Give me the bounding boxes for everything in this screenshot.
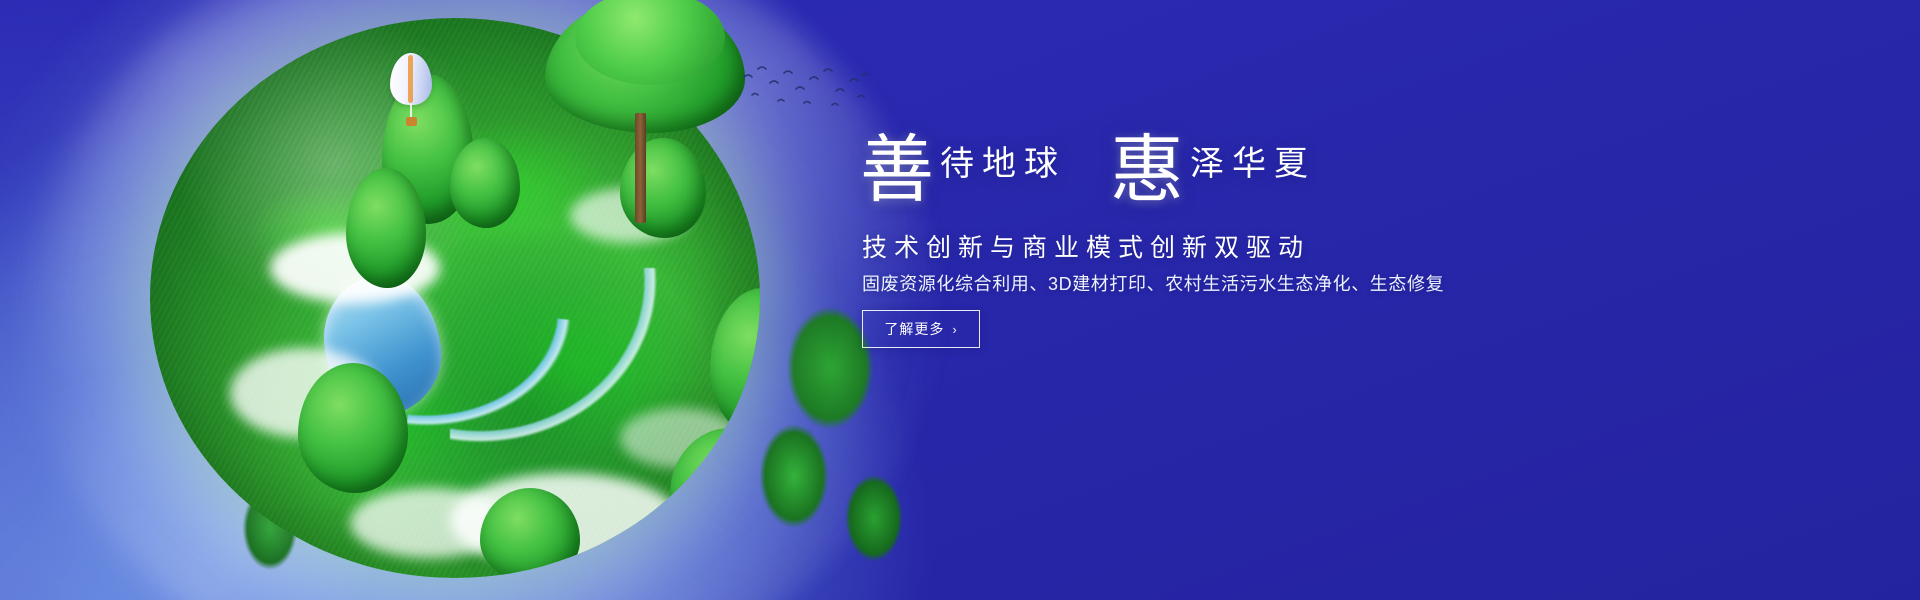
headline: 善待地球惠泽华夏 xyxy=(860,133,1316,207)
hot-air-balloon-icon xyxy=(390,53,432,131)
little-planet-illustration xyxy=(150,18,760,578)
learn-more-button[interactable]: 了解更多 › xyxy=(862,310,980,348)
learn-more-label: 了解更多 xyxy=(884,319,944,339)
headline-rest-1: 待地球 xyxy=(940,144,1066,184)
description: 固废资源化综合利用、3D建材打印、农村生活污水生态净化、生态修复 xyxy=(862,270,1444,296)
headline-rest-2: 泽华夏 xyxy=(1190,144,1316,184)
headline-char-1: 善 xyxy=(860,127,934,213)
hero-copy: 善待地球惠泽华夏 技术创新与商业模式创新双驱动 固废资源化综合利用、3D建材打印… xyxy=(860,0,1860,600)
chevron-right-icon: › xyxy=(952,323,957,336)
hero-banner: 善待地球惠泽华夏 技术创新与商业模式创新双驱动 固废资源化综合利用、3D建材打印… xyxy=(0,0,1920,600)
headline-char-2: 惠 xyxy=(1110,127,1184,213)
birds-icon xyxy=(740,63,880,113)
subtitle: 技术创新与商业模式创新双驱动 xyxy=(862,228,1310,264)
